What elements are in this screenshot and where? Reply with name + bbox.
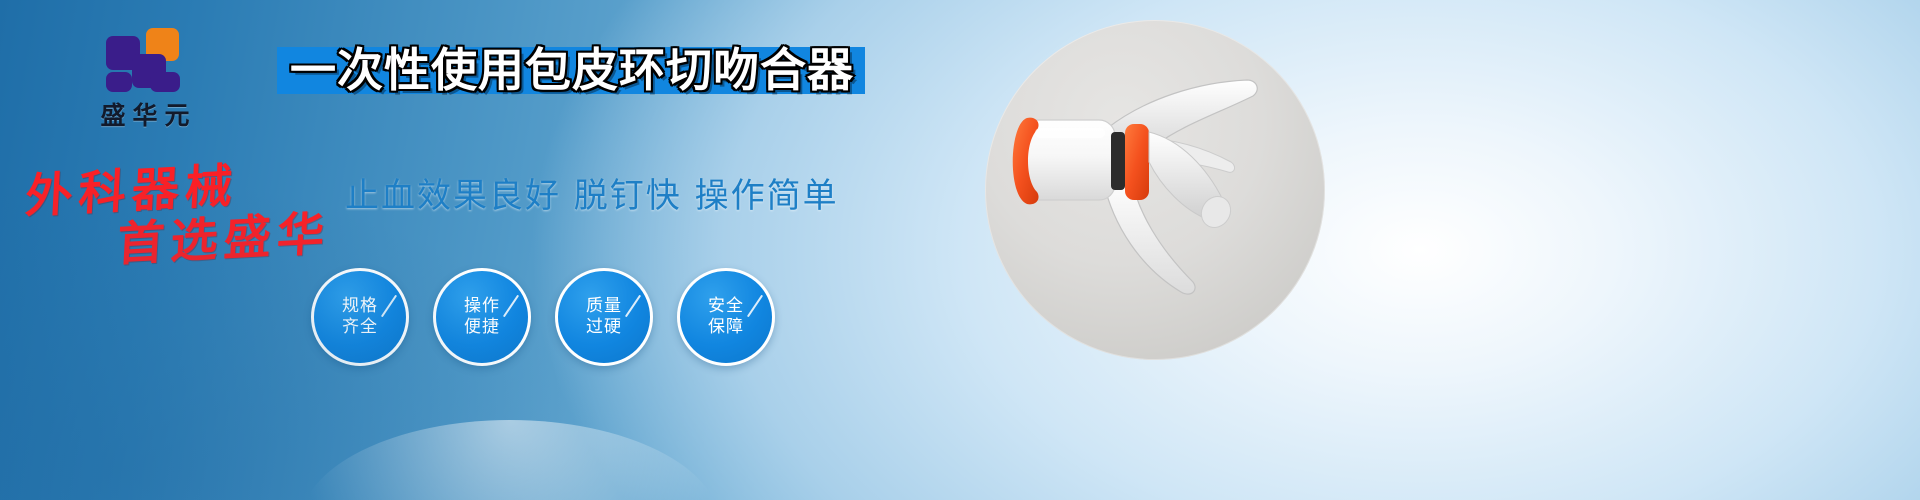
subtitle: 止血效果良好 脱钉快 操作简单 (345, 168, 839, 217)
logo-square-purple-3 (106, 72, 132, 92)
feature-badge-1-line1: 规格 (342, 296, 378, 317)
feature-badge-1[interactable]: 规格 齐全 (311, 268, 409, 366)
feature-badge-3[interactable]: 质量 过硬 (555, 268, 653, 366)
logo-mark-icon (106, 28, 184, 90)
brand-name: 盛华元 (60, 96, 230, 132)
logo-square-purple-4 (150, 72, 180, 92)
feature-badge-2[interactable]: 操作 便捷 (433, 268, 531, 366)
feature-badge-4-line2: 保障 (708, 317, 744, 338)
feature-badge-3-line1: 质量 (586, 296, 622, 317)
background-arc-decoration (300, 420, 720, 500)
feature-badges: 规格 齐全 操作 便捷 质量 过硬 安全 保障 (311, 268, 775, 366)
product-photo (985, 20, 1325, 360)
stapler-device-illustration (985, 20, 1325, 360)
slash-accent-icon (625, 295, 641, 318)
slash-accent-icon (381, 295, 397, 318)
feature-badge-4-line1: 安全 (708, 296, 744, 317)
brand-logo[interactable]: 盛华元 (60, 28, 230, 128)
slash-accent-icon (747, 295, 763, 318)
feature-badge-4[interactable]: 安全 保障 (677, 268, 775, 366)
feature-badge-2-line1: 操作 (464, 296, 500, 317)
product-banner: 盛华元 一次性使用包皮环切吻合器 外科器械 首选盛华 止血效果良好 脱钉快 操作… (0, 0, 1920, 500)
feature-badge-2-line2: 便捷 (464, 317, 500, 338)
page-title: 一次性使用包皮环切吻合器 (290, 39, 860, 101)
slogan-line-2: 首选盛华 (116, 194, 333, 274)
slash-accent-icon (503, 295, 519, 318)
feature-badge-1-line2: 齐全 (342, 317, 378, 338)
feature-badge-3-line2: 过硬 (586, 317, 622, 338)
